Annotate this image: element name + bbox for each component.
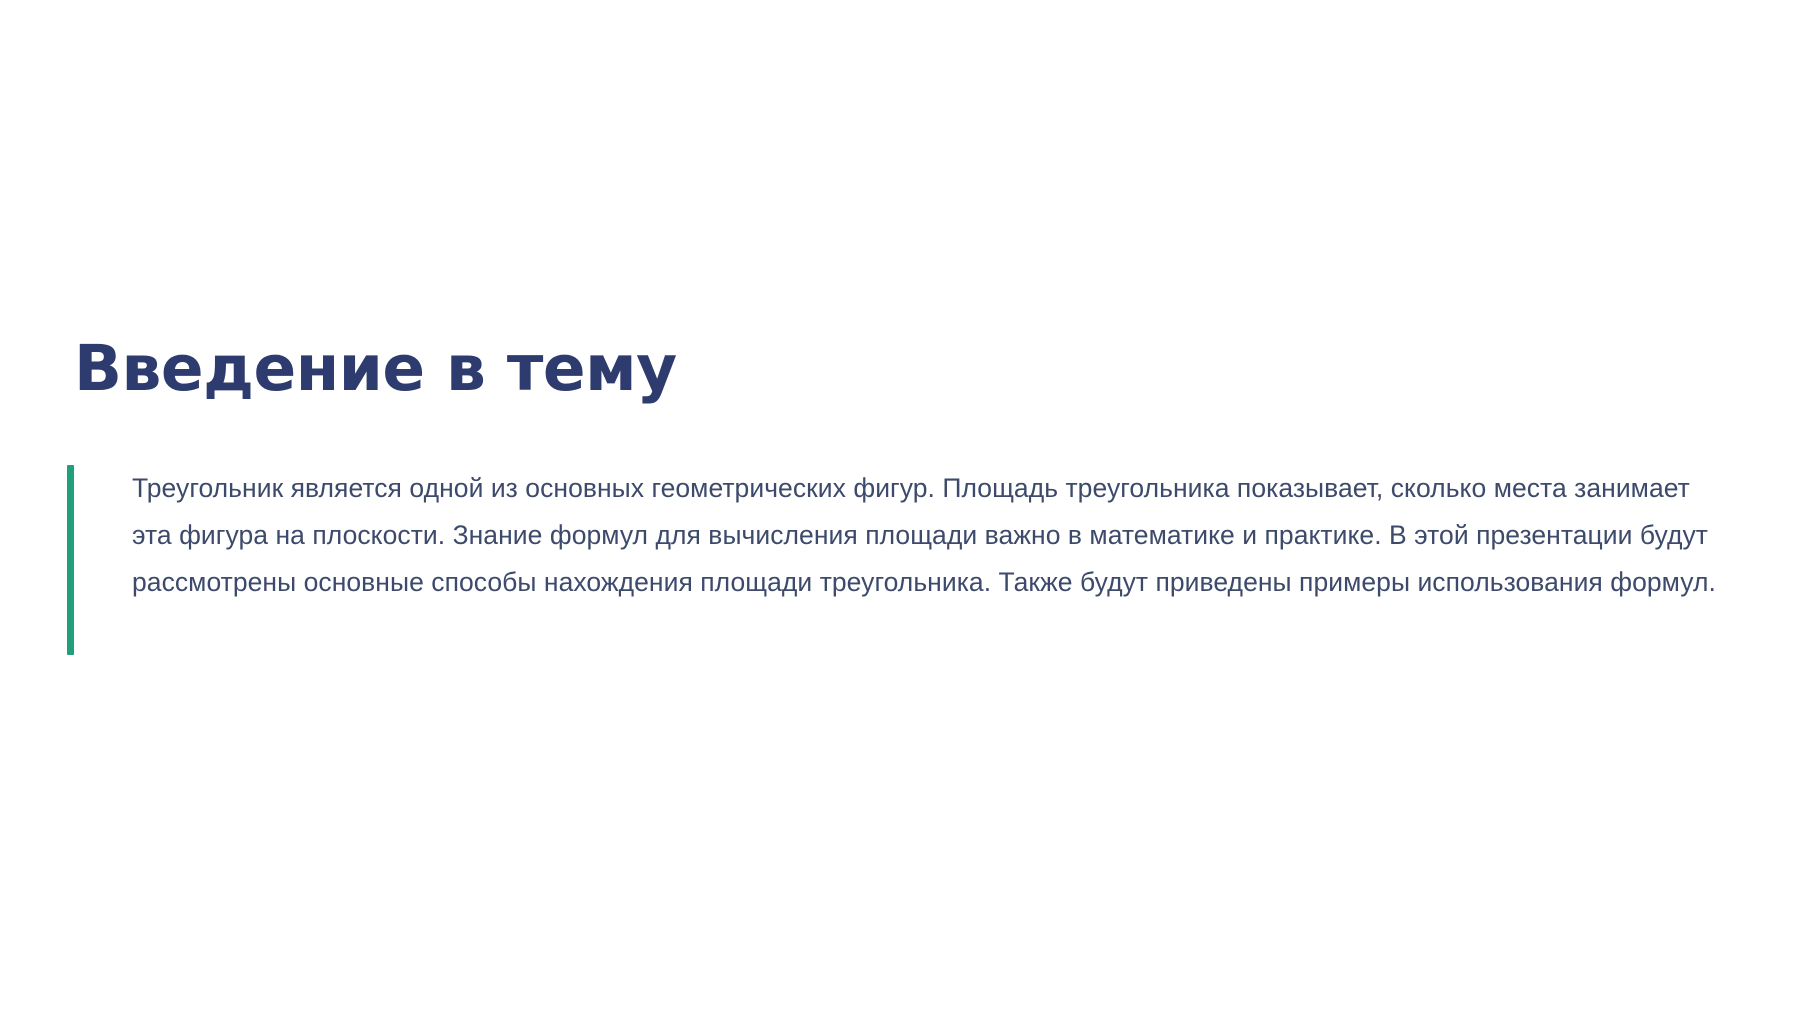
intro-text-block: Треугольник является одной из основных г… — [67, 465, 1732, 655]
presentation-slide: Введение в тему Треугольник является одн… — [0, 0, 1800, 1013]
accent-bar — [67, 465, 74, 655]
page-title: Введение в тему — [74, 336, 677, 402]
intro-paragraph: Треугольник является одной из основных г… — [74, 465, 1732, 655]
